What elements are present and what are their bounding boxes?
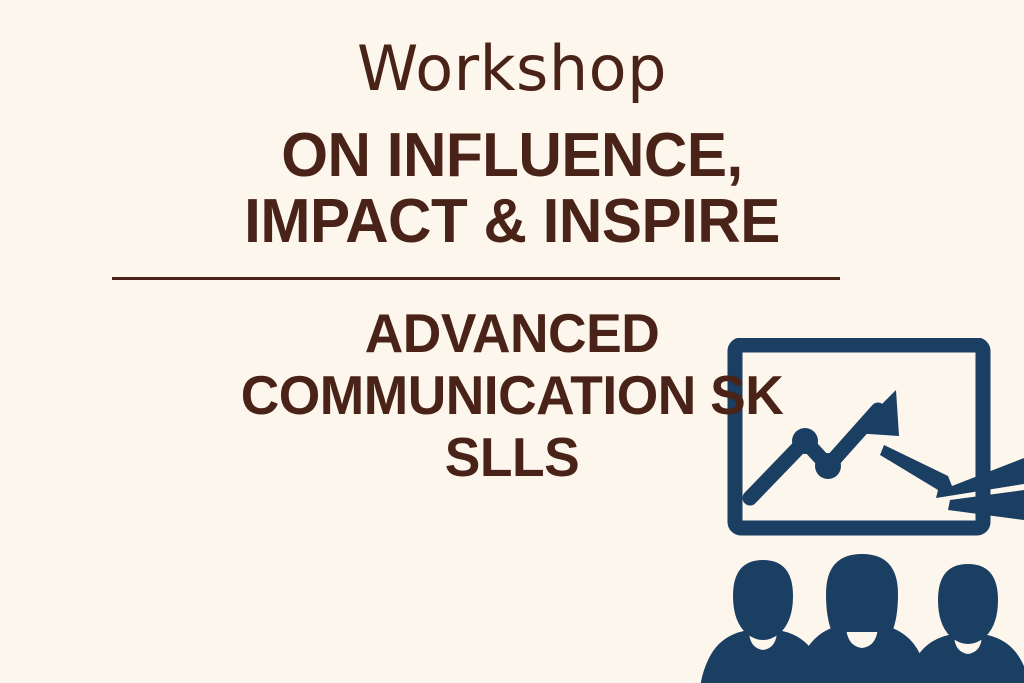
subheading-line-1: ADVANCED <box>15 302 1008 364</box>
audience-group <box>700 554 1024 683</box>
eyebrow-text: Workshop <box>0 38 1024 100</box>
headline: ON INFLUENCE, IMPACT & INSPIRE <box>0 123 1024 255</box>
subheading-line-3: SLLS <box>15 426 1008 488</box>
audience-person-center <box>794 554 930 683</box>
divider-rule <box>112 277 840 280</box>
poster-canvas: Workshop ON INFLUENCE, IMPACT & INSPIRE … <box>0 0 1024 683</box>
headline-line-2: IMPACT & INSPIRE <box>15 189 1008 255</box>
subheading: ADVANCED COMMUNICATION SK SLLS <box>0 302 1024 488</box>
subheading-line-2: COMMUNICATION SK <box>15 364 1008 426</box>
headline-line-1: ON INFLUENCE, <box>15 123 1008 189</box>
audience-person-right <box>904 564 1024 683</box>
